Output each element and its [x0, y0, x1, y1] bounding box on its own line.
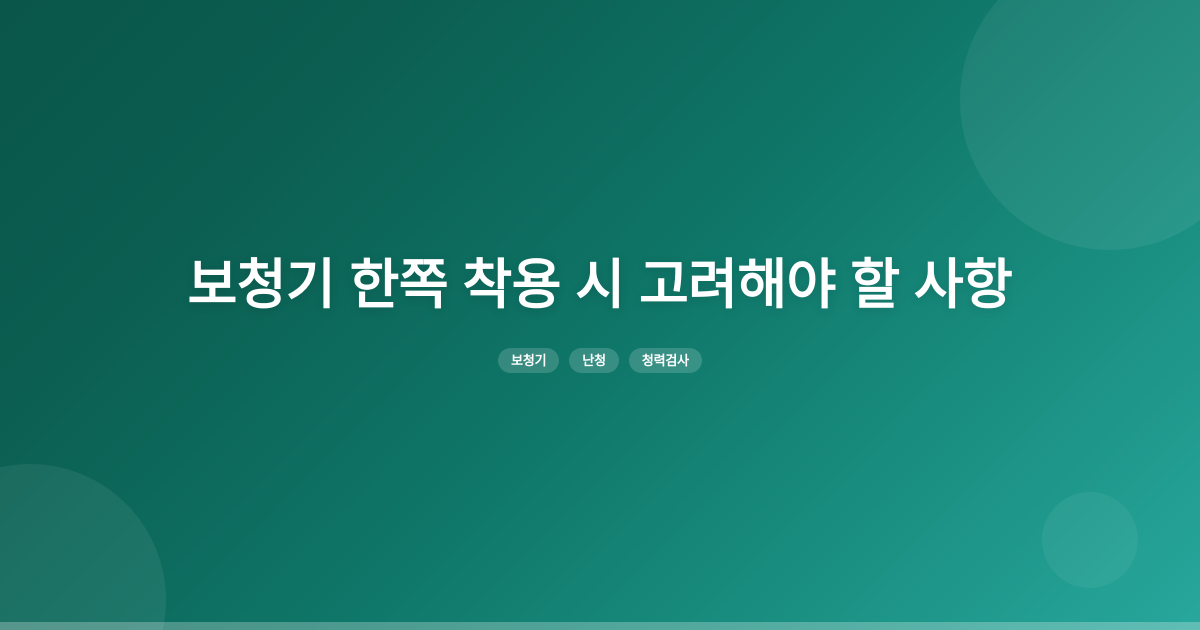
bottom-accent-band	[0, 622, 1200, 630]
cover-card: 보청기 한쪽 착용 시 고려해야 할 사항 보청기 난청 청력검사	[0, 0, 1200, 630]
tag-pill[interactable]: 난청	[569, 348, 619, 373]
tag-pill[interactable]: 청력검사	[629, 348, 702, 373]
cover-content: 보청기 한쪽 착용 시 고려해야 할 사항 보청기 난청 청력검사	[0, 0, 1200, 630]
tag-list: 보청기 난청 청력검사	[498, 348, 702, 373]
page-title: 보청기 한쪽 착용 시 고려해야 할 사항	[188, 251, 1013, 319]
tag-pill[interactable]: 보청기	[498, 348, 559, 373]
